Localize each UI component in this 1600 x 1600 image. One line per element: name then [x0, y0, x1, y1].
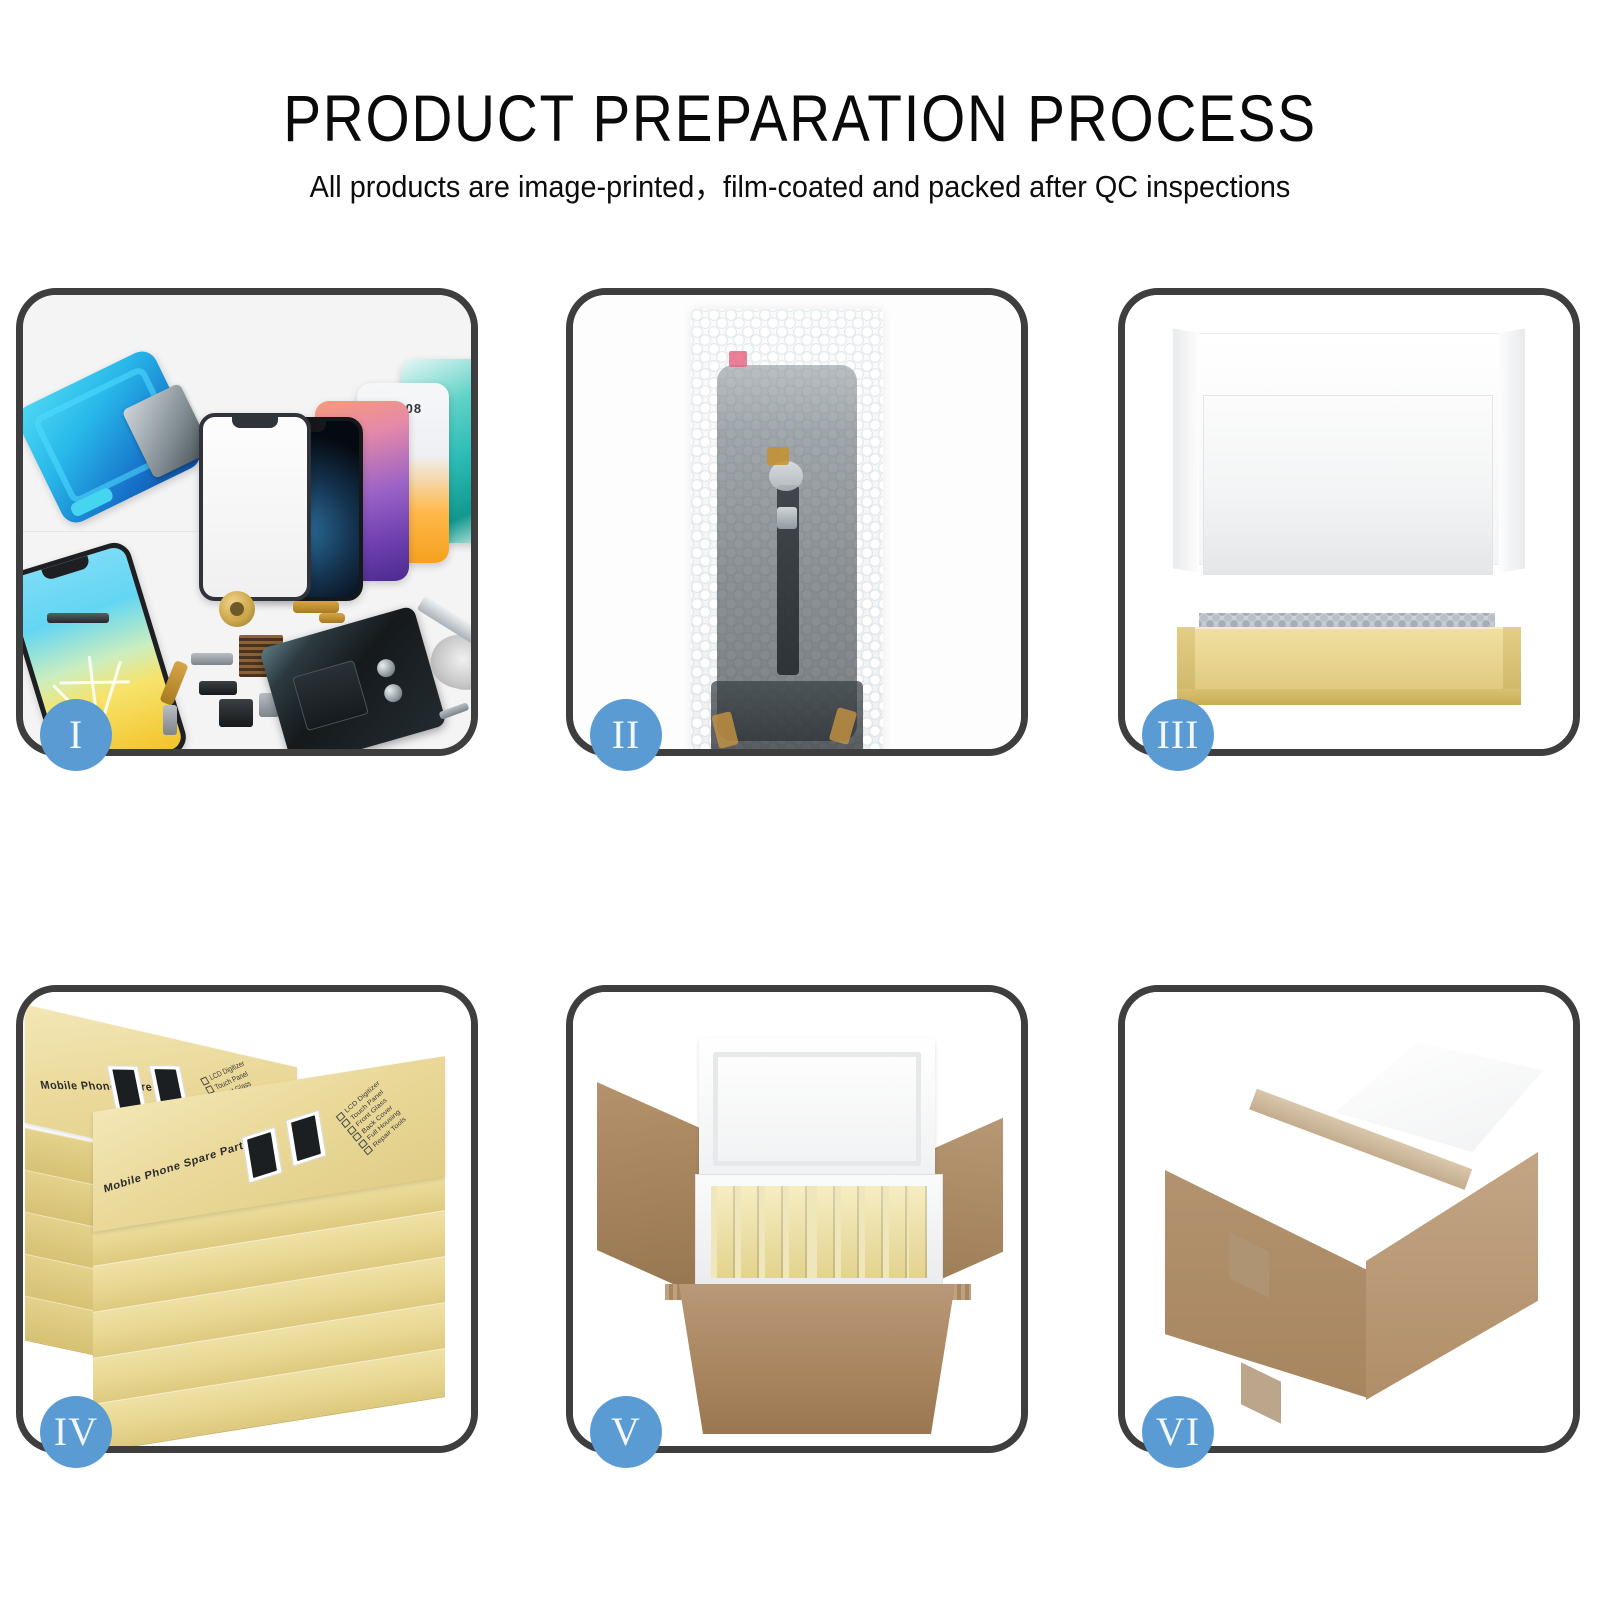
white-foam-sheet [1203, 395, 1493, 575]
bubble-wrap-bag [691, 309, 883, 749]
process-row-bottom: Mobile Phone Spare Parts LCD Digitizer T… [0, 985, 1600, 1477]
step-3-image [1125, 295, 1573, 749]
front-glass-part [199, 413, 311, 601]
step-6-image [1125, 992, 1573, 1446]
qc-pink-sticker [729, 351, 747, 367]
step-1-image: 08:08 [23, 295, 471, 749]
retail-box-checklist-front: LCD Digitizer Touch Panel Front Glass Ba… [335, 1079, 410, 1156]
yellow-mailer-tray-front [1177, 689, 1521, 705]
page-subtitle: All products are image-printed，film-coat… [56, 154, 1544, 206]
camera-module-part [191, 653, 233, 665]
step-card-4[interactable]: Mobile Phone Spare Parts LCD Digitizer T… [16, 985, 478, 1453]
step-2-image [573, 295, 1021, 749]
wrapped-connector-disc [769, 461, 803, 491]
sim-tray-part [163, 705, 177, 735]
carton-body [667, 1284, 967, 1434]
vibration-motor-part [199, 681, 237, 695]
retail-box-brand-front: Mobile Phone Spare Parts [103, 1138, 251, 1196]
step-badge-5: V [590, 1396, 662, 1468]
step-4-image: Mobile Phone Spare Parts LCD Digitizer T… [23, 992, 471, 1446]
flex-cable-part-a [293, 601, 339, 613]
page-title: PRODUCT PREPARATION PROCESS [112, 0, 1488, 154]
wrapped-driver-chip [777, 507, 797, 529]
step-badge-3: III [1142, 699, 1214, 771]
mailer-flap-right [1499, 328, 1525, 573]
box-thumbnail-b1 [241, 1127, 282, 1184]
speaker-mesh-part [47, 613, 109, 623]
step-card-5[interactable]: V [566, 985, 1028, 1453]
foam-case-lid [699, 1038, 935, 1180]
step-5-image [573, 992, 1021, 1446]
step-card-1[interactable]: 08:08 [16, 288, 478, 756]
step-badge-1: I [40, 699, 112, 771]
page-header: PRODUCT PREPARATION PROCESS All products… [0, 0, 1600, 206]
step-card-3[interactable]: III [1118, 288, 1580, 756]
flex-cable-part-b [319, 613, 345, 623]
box-thumbnail-b2 [285, 1110, 326, 1167]
step-card-2[interactable]: II [566, 288, 1028, 756]
step-card-6[interactable]: VI [1118, 985, 1580, 1453]
taptic-engine-part [219, 699, 253, 727]
wrapped-kapton-tape [767, 447, 789, 465]
wireless-charging-coil-part [219, 591, 255, 627]
process-row-top: 08:08 [0, 288, 1600, 780]
step-badge-4: IV [40, 1396, 112, 1468]
step-badge-6: VI [1142, 1396, 1214, 1468]
mailer-flap-left [1173, 328, 1199, 573]
packed-retail-boxes [711, 1186, 927, 1278]
step-badge-2: II [590, 699, 662, 771]
